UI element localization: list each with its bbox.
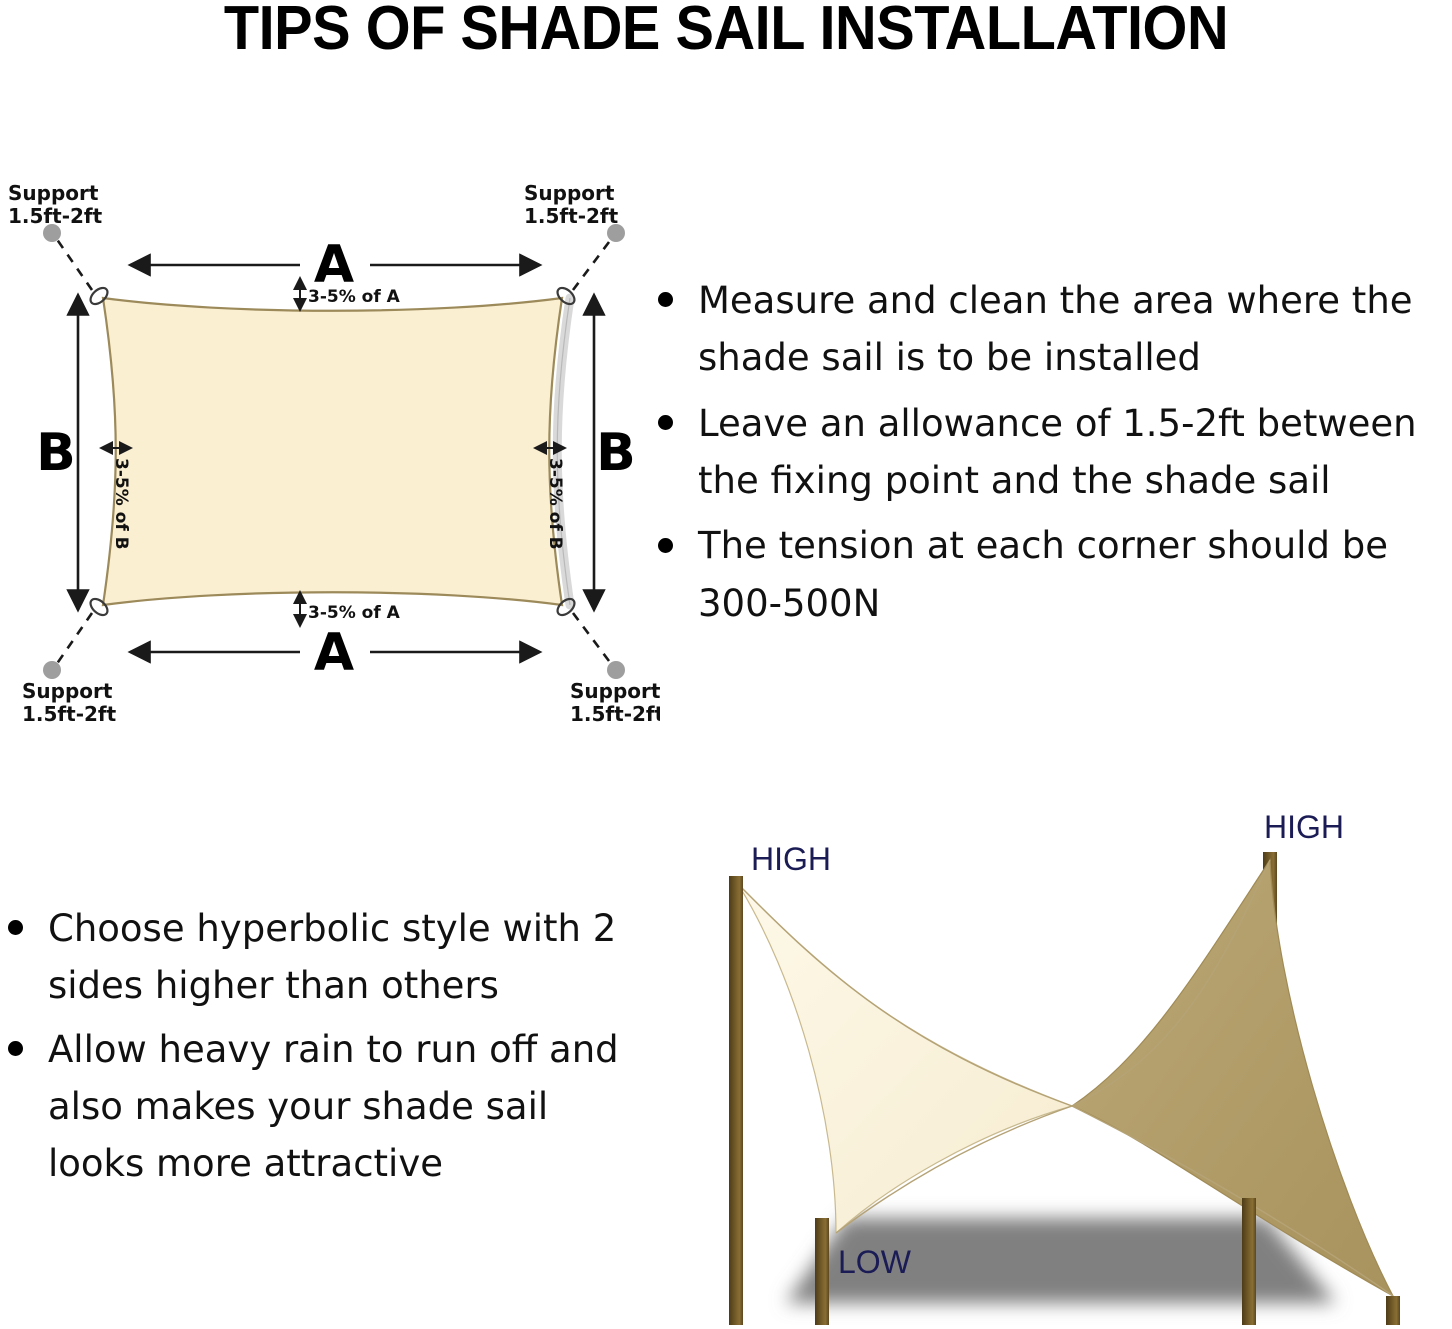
tips-list-measurement: Measure and clean the area where the sha… bbox=[652, 272, 1452, 640]
list-item: Leave an allowance of 1.5-2ft between th… bbox=[652, 395, 1452, 510]
list-item-text: Leave an allowance of 1.5-2ft between th… bbox=[698, 402, 1417, 502]
bullet-dot-icon bbox=[658, 292, 673, 307]
support-label-bottom-right: Support 1.5ft-2ft bbox=[570, 679, 660, 726]
dimension-label-b-left: B bbox=[36, 423, 76, 483]
support-label-line1: Support bbox=[524, 181, 615, 205]
post-low-right bbox=[1386, 1296, 1400, 1325]
support-label-line1: Support bbox=[570, 679, 660, 703]
support-label-top-left: Support 1.5ft-2ft bbox=[8, 181, 103, 228]
support-label-line2: 1.5ft-2ft bbox=[22, 702, 117, 726]
list-item-text: Allow heavy rain to run off and also mak… bbox=[48, 1028, 619, 1186]
support-dot-bottom-left bbox=[43, 661, 61, 679]
curve-label-bottom: 3-5% of A bbox=[308, 603, 401, 623]
support-label-line2: 1.5ft-2ft bbox=[8, 204, 103, 228]
post-low-left-front bbox=[815, 1218, 829, 1325]
dimension-label-a-bottom: A bbox=[314, 623, 354, 683]
list-item: Choose hyperbolic style with 2 sides hig… bbox=[2, 900, 632, 1015]
dimension-label-a-top: A bbox=[314, 235, 354, 295]
list-item: Measure and clean the area where the sha… bbox=[652, 272, 1452, 387]
bullet-dot-icon bbox=[8, 920, 23, 935]
bullet-dot-icon bbox=[658, 538, 673, 553]
rectangular-sail-diagram: Support 1.5ft-2ft Support 1.5ft-2ft Supp… bbox=[0, 160, 660, 740]
support-label-bottom-left: Support 1.5ft-2ft bbox=[22, 679, 117, 726]
support-label-line1: Support bbox=[22, 679, 113, 703]
bullet-dot-icon bbox=[658, 415, 673, 430]
label-high-left: HIGH bbox=[751, 841, 831, 877]
list-item-text: Choose hyperbolic style with 2 sides hig… bbox=[48, 907, 616, 1007]
curve-label-top: 3-5% of A bbox=[308, 287, 401, 307]
post-low-mid-right bbox=[1242, 1198, 1256, 1325]
support-label-line1: Support bbox=[8, 181, 99, 205]
label-high-right: HIGH bbox=[1264, 809, 1344, 845]
curve-label-right: 3-5% of B bbox=[545, 458, 565, 550]
page-title: TIPS OF SHADE SAIL INSTALLATION bbox=[51, 0, 1401, 61]
post-high-left bbox=[729, 876, 743, 1325]
list-item: The tension at each corner should be 300… bbox=[652, 517, 1452, 632]
support-label-line2: 1.5ft-2ft bbox=[524, 204, 619, 228]
curve-label-left: 3-5% of B bbox=[111, 458, 131, 550]
bullet-dot-icon bbox=[8, 1041, 23, 1056]
hyperbolic-sail-diagram: HIGH HIGH LOW LOW bbox=[676, 788, 1452, 1325]
list-item-text: The tension at each corner should be 300… bbox=[698, 524, 1388, 624]
list-item-text: Measure and clean the area where the sha… bbox=[698, 279, 1413, 379]
support-label-line2: 1.5ft-2ft bbox=[570, 702, 660, 726]
tips-list-hyperbolic: Choose hyperbolic style with 2 sides hig… bbox=[2, 900, 632, 1199]
list-item: Allow heavy rain to run off and also mak… bbox=[2, 1021, 632, 1193]
support-label-top-right: Support 1.5ft-2ft bbox=[524, 181, 619, 228]
label-low-left: LOW bbox=[838, 1244, 912, 1280]
shade-sail-shape bbox=[103, 298, 562, 605]
dimension-label-b-right: B bbox=[596, 423, 636, 483]
sail-panel-front bbox=[738, 884, 1072, 1233]
support-dot-bottom-right bbox=[607, 661, 625, 679]
